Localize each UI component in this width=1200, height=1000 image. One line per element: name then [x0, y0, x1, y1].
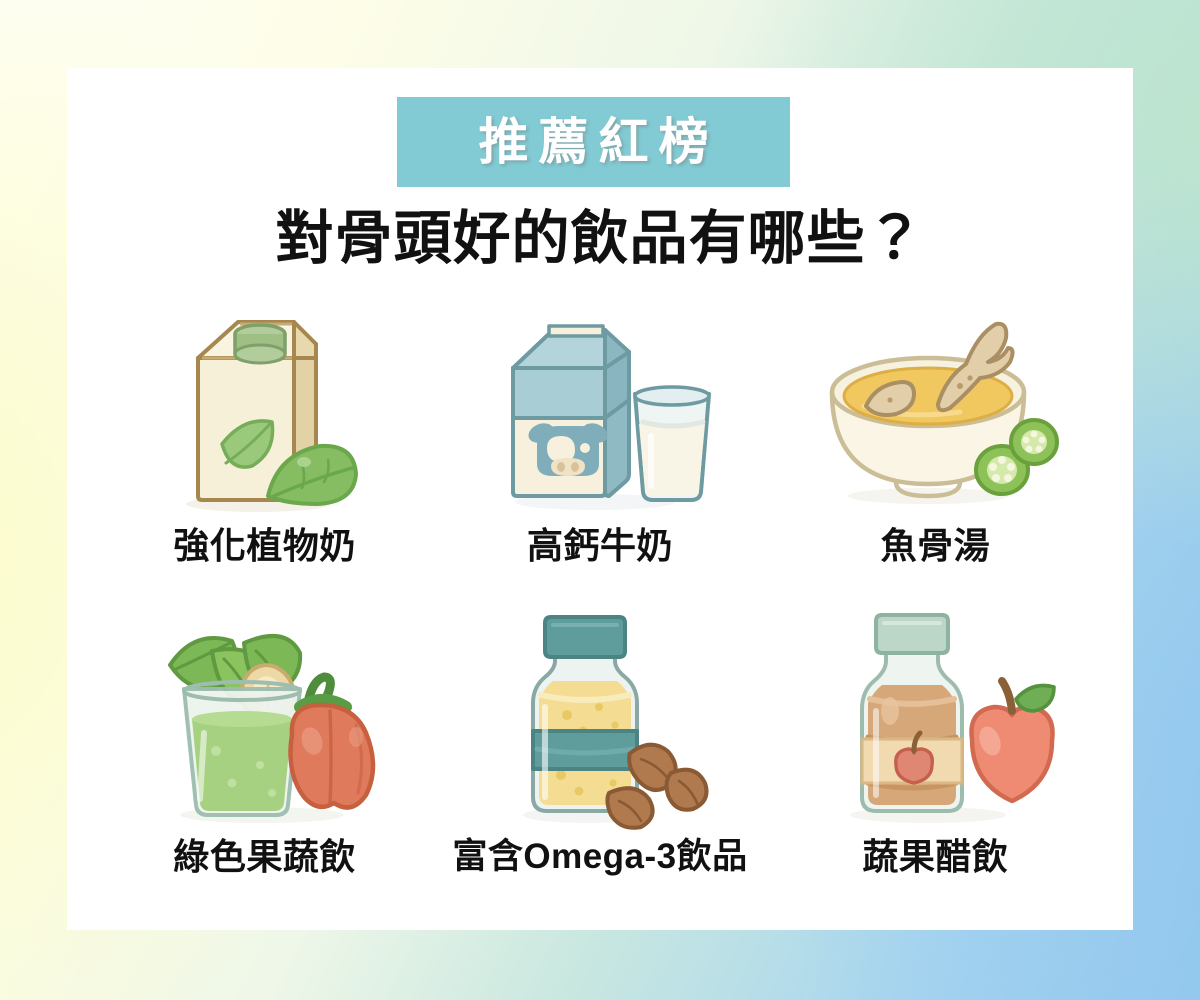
list-item-label: 綠色果蔬飲 [173, 839, 356, 875]
page-title: 對骨頭好的飲品有哪些？ [67, 210, 1133, 268]
vinegar-bottle-apple-icon [810, 607, 1060, 837]
list-item-label: 富含Omega-3飲品 [452, 839, 747, 874]
content-card: 推薦紅榜 對骨頭好的飲品有哪些？ [67, 68, 1133, 930]
list-item-label: 蔬果醋飲 [862, 839, 1008, 875]
plant-milk-carton-icon [140, 296, 390, 526]
drink-list: 強化植物奶 [97, 296, 1103, 918]
green-smoothie-pepper-icon [140, 607, 390, 837]
list-item-green-veggie-juice[interactable]: 綠色果蔬飲 [97, 607, 432, 918]
list-item-fruit-vinegar-drink[interactable]: 蔬果醋飲 [768, 607, 1103, 918]
list-item-label: 魚骨湯 [881, 528, 991, 564]
list-item-fish-bone-soup[interactable]: 魚骨湯 [768, 296, 1103, 607]
poster-background: 推薦紅榜 對骨頭好的飲品有哪些？ [0, 0, 1200, 1000]
fish-bone-soup-bowl-icon [810, 296, 1060, 526]
banner-label: 推薦紅榜 [469, 117, 719, 167]
list-item-omega-3-drink[interactable]: 富含Omega-3飲品 [432, 607, 767, 918]
list-item-label: 高鈣牛奶 [527, 528, 673, 564]
milk-carton-glass-icon [475, 296, 725, 526]
list-item-high-calcium-milk[interactable]: 高鈣牛奶 [432, 296, 767, 607]
list-item-fortified-plant-milk[interactable]: 強化植物奶 [97, 296, 432, 607]
list-item-label: 強化植物奶 [173, 528, 356, 564]
omega3-bottle-almond-icon [475, 607, 725, 837]
recommendation-banner: 推薦紅榜 [397, 97, 790, 187]
